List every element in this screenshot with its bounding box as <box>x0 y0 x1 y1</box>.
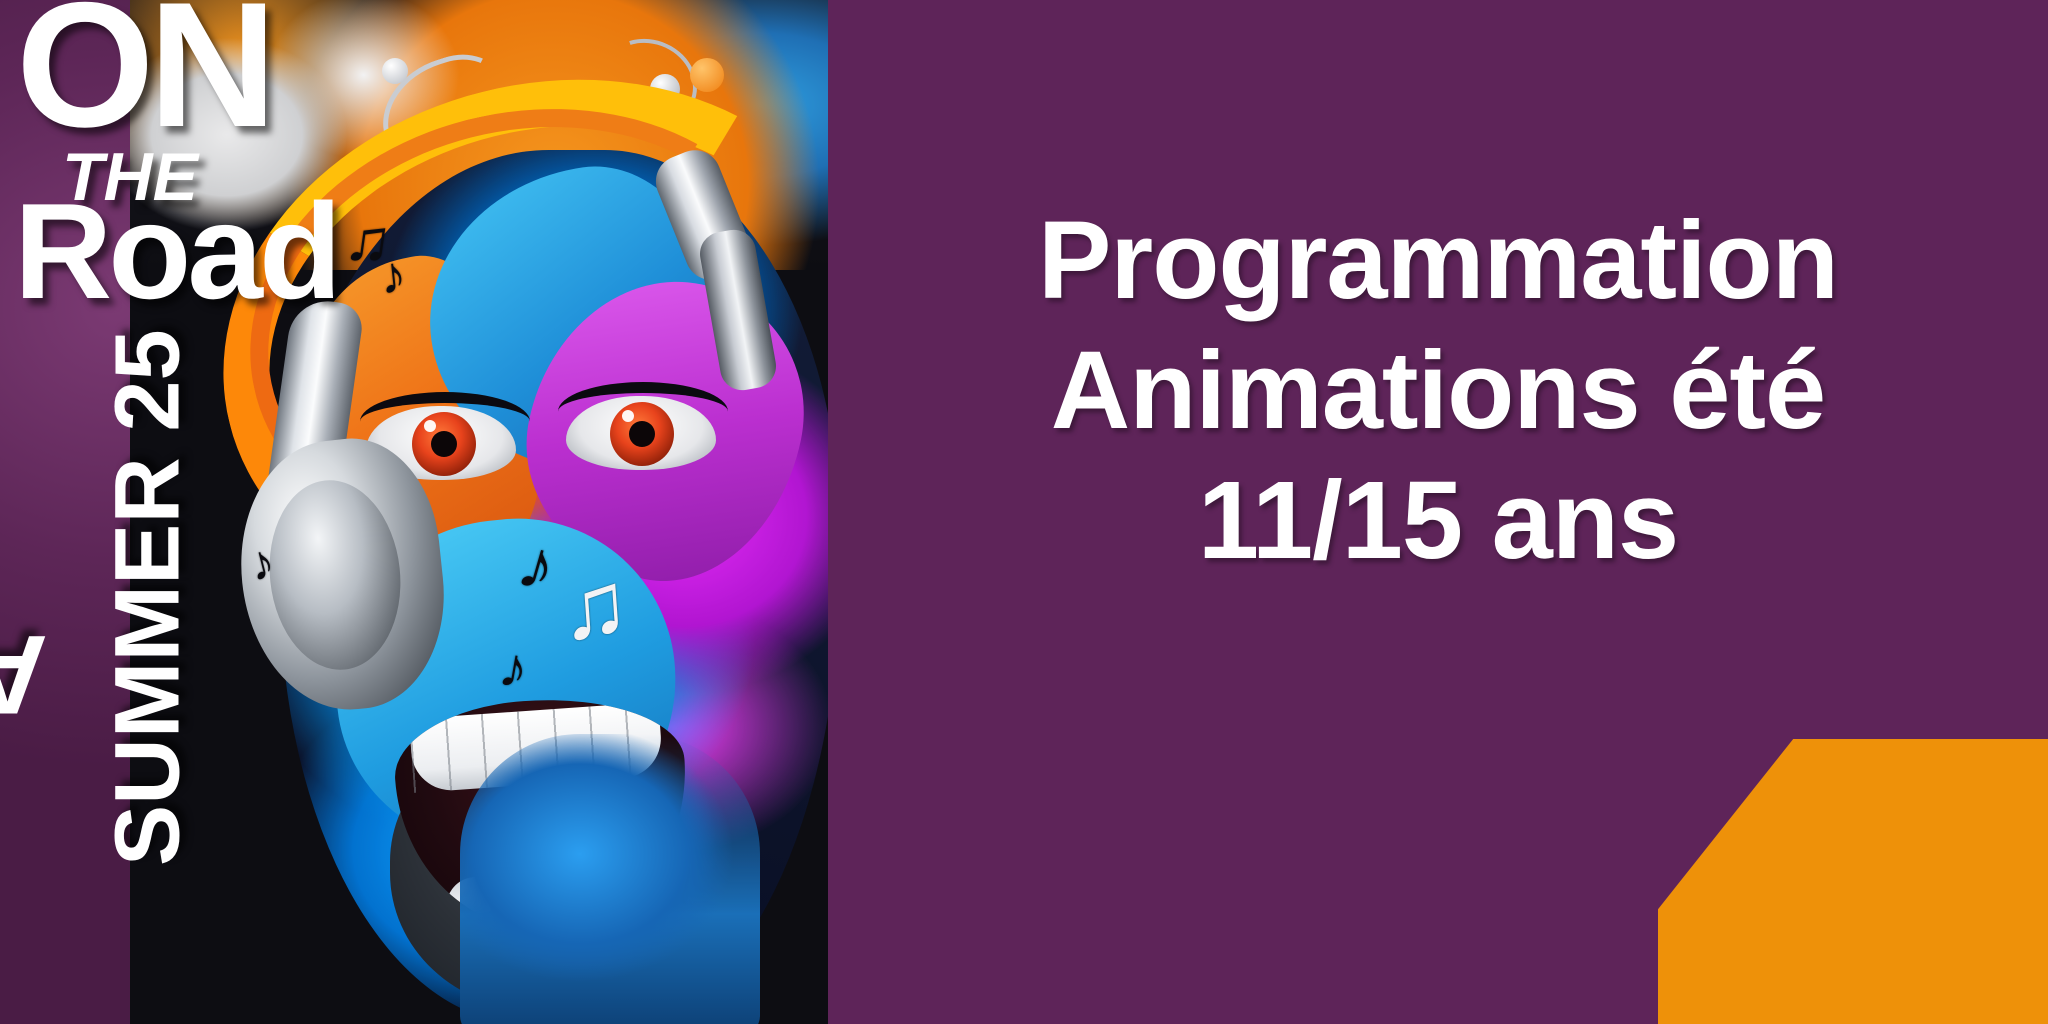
page-title: Programmation Animations été 11/15 ans <box>828 196 2048 585</box>
event-banner: ♫ ♪ ♪ ♪ ♫ ♪ ON THE Road AGAIN SUMMER 25 … <box>0 0 2048 1024</box>
poster-word-again: AGAIN <box>0 628 48 720</box>
bubble-dot-orange <box>690 58 724 92</box>
music-note-icon: ♫ <box>557 558 632 655</box>
hexagon-decoration <box>1658 739 2048 1024</box>
headline-line-3: 11/15 ans <box>828 456 2048 586</box>
paint-drip <box>460 734 760 1024</box>
headline-line-1: Programmation <box>828 196 2048 326</box>
poster-artwork: ♫ ♪ ♪ ♪ ♫ ♪ ON THE Road AGAIN SUMMER 25 <box>0 0 828 1024</box>
poster-word-road: Road <box>14 196 338 308</box>
headline-panel: Programmation Animations été 11/15 ans <box>828 0 2048 1024</box>
headline-line-2: Animations été <box>828 326 2048 456</box>
poster-word-summer: SUMMER 25 <box>111 329 186 866</box>
poster-word-on: ON <box>16 0 271 138</box>
music-note-icon: ♪ <box>377 249 408 303</box>
bubble-dot <box>382 58 408 84</box>
